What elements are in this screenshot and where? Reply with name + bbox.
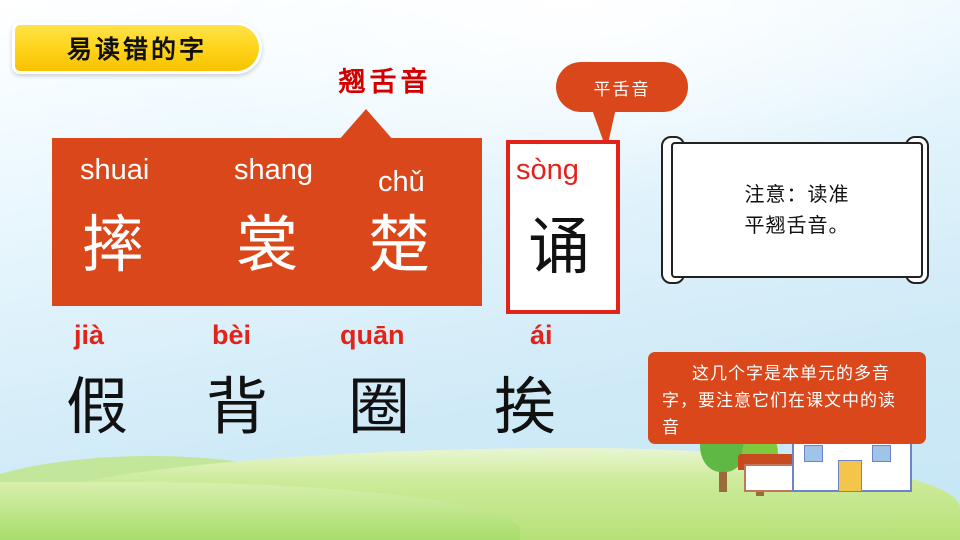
scroll-note-line1: 注意：读准 bbox=[745, 179, 850, 210]
label-pingshe-yin: 平舌音 bbox=[594, 75, 651, 100]
pinyin-ai: ái bbox=[530, 320, 553, 351]
scroll-paper: 注意：读准 平翘舌音。 bbox=[671, 142, 923, 278]
red-character-box: sòng 诵 bbox=[506, 140, 620, 314]
bottom-note-text: 这几个字是本单元的多音字，要注意它们在课文中的读音 bbox=[662, 361, 912, 443]
bottom-note: 这几个字是本单元的多音字，要注意它们在课文中的读音 bbox=[648, 352, 926, 444]
speech-bubble-pingshe: 平舌音 bbox=[556, 62, 688, 112]
pinyin-jia: jià bbox=[74, 320, 104, 351]
scroll-note-line2: 平翘舌音。 bbox=[745, 210, 850, 241]
character-shang: 裳 bbox=[236, 194, 298, 284]
page-title: 易读错的字 bbox=[12, 22, 262, 74]
label-chishe-yin: 翘舌音 bbox=[300, 60, 470, 99]
character-bei: 背 bbox=[206, 356, 268, 446]
character-ai: 挨 bbox=[494, 356, 556, 446]
page-title-label: 易读错的字 bbox=[67, 30, 207, 66]
character-chu: 楚 bbox=[368, 194, 430, 284]
character-jia: 假 bbox=[66, 356, 128, 446]
pinyin-shang: shang bbox=[234, 154, 313, 187]
character-quan: 圈 bbox=[348, 356, 410, 446]
pinyin-shuai: shuai bbox=[80, 154, 149, 187]
pinyin-quan: quān bbox=[340, 320, 405, 351]
pinyin-bei: bèi bbox=[212, 320, 251, 351]
second-character-row: jià 假 bèi 背 quān 圈 ái 挨 bbox=[52, 320, 632, 450]
character-shuai: 摔 bbox=[82, 194, 144, 284]
orange-character-box: shuai 摔 shang 裳 chǔ 楚 bbox=[52, 138, 482, 306]
character-song: 诵 bbox=[528, 196, 590, 286]
pinyin-song: sòng bbox=[516, 154, 579, 187]
scroll-note: 注意：读准 平翘舌音。 bbox=[655, 142, 935, 274]
orange-box-pointer bbox=[338, 109, 394, 141]
